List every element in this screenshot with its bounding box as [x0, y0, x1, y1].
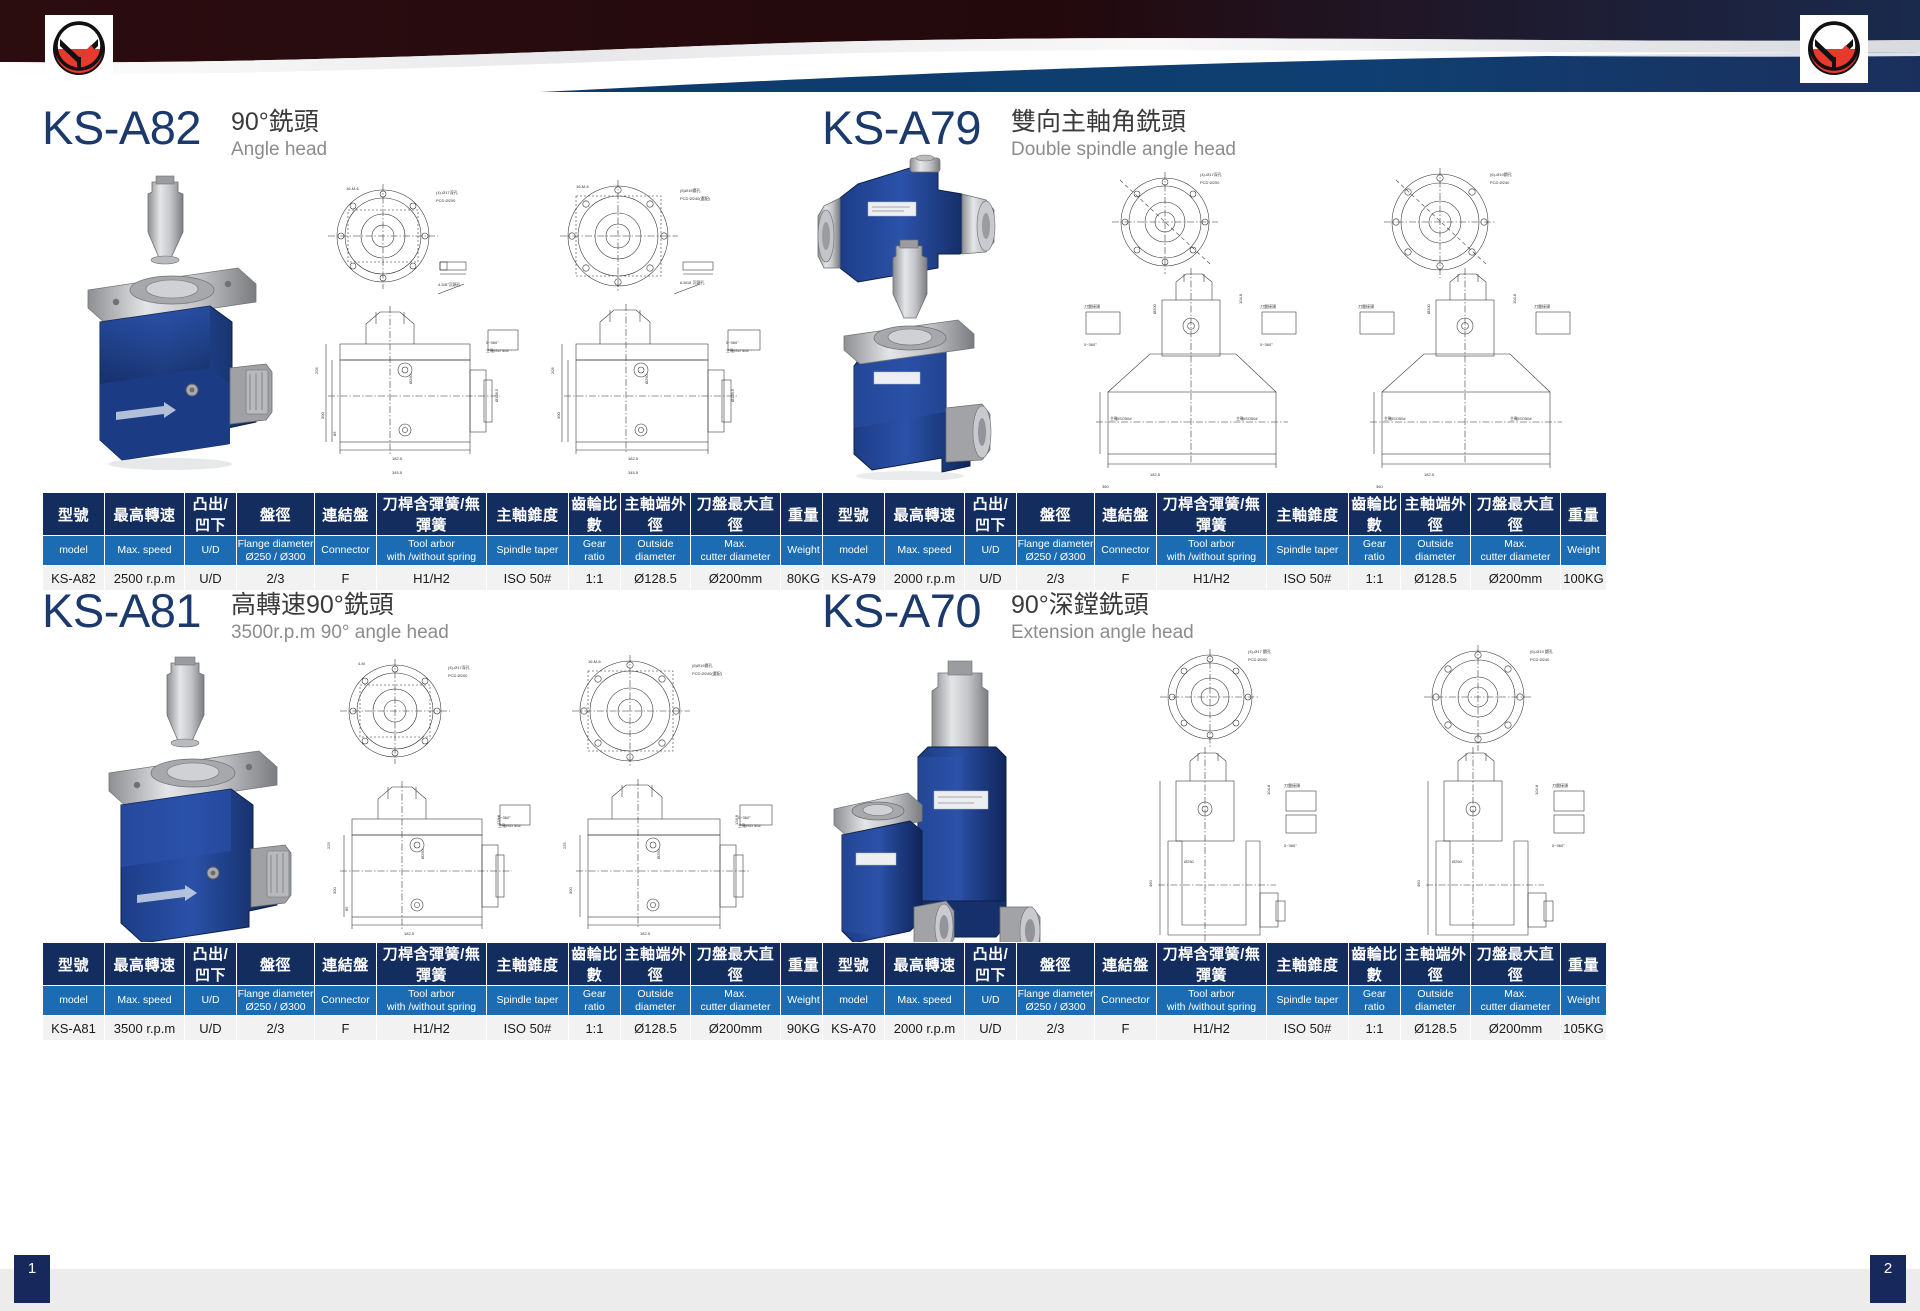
- th-cn-5: 刀桿含彈簧/無彈簧: [377, 943, 487, 986]
- svg-text:PCD Ø240(選配): PCD Ø240(選配): [680, 195, 711, 201]
- table-header-en-row: model Max. speed U/D Flange diameterØ250…: [43, 986, 827, 1016]
- cell-connector: F: [315, 1016, 377, 1041]
- svg-text:主軸ISO 50#: 主軸ISO 50#: [486, 347, 509, 353]
- svg-text:4-M: 4-M: [358, 661, 365, 666]
- th-en-7: Gearratio: [1349, 536, 1401, 566]
- table-row: KS-A70 2000 r.p.m U/D 2/3 F H1/H2 ISO 50…: [823, 1016, 1607, 1041]
- svg-text:0~360°: 0~360°: [1260, 342, 1273, 347]
- th-cn-10: 重量: [1561, 943, 1607, 986]
- page-number-right: 2: [1870, 1255, 1906, 1303]
- spec-table-ks-a82: 型號 最高轉速 凸出/凹下 盤徑 連結盤 刀桿含彈簧/無彈簧 主軸錐度 齒輪比數…: [42, 492, 827, 591]
- th-en-1: Max. speed: [105, 986, 185, 1016]
- th-en-5: Tool arborwith /without spring: [377, 536, 487, 566]
- th-en-2: U/D: [185, 536, 237, 566]
- cell-tool-arbor: H1/H2: [377, 1016, 487, 1041]
- svg-text:PCD Ø240: PCD Ø240: [1530, 657, 1550, 662]
- th-en-4: Connector: [1095, 536, 1157, 566]
- svg-text:16-M-6: 16-M-6: [588, 659, 601, 664]
- product-block-ks-a82: KS-A82 90°銑頭 Angle head: [0, 92, 800, 587]
- svg-text:16-M-6: 16-M-6: [346, 186, 359, 191]
- svg-text:0~360°: 0~360°: [1552, 843, 1565, 848]
- th-en-8: Outsidediameter: [1401, 536, 1471, 566]
- th-cn-9: 刀盤最大直徑: [691, 943, 781, 986]
- svg-text:182.5: 182.5: [404, 931, 415, 936]
- th-en-6: Spindle taper: [1267, 536, 1349, 566]
- cell-ud: U/D: [965, 1016, 1017, 1041]
- cell-connector: F: [1095, 1016, 1157, 1041]
- svg-text:300: 300: [568, 887, 573, 894]
- th-cn-10: 重量: [1561, 493, 1607, 536]
- technical-drawing-ks-a82: 16-M-6 (4)-Ø17深孔 PCD Ø200 16-M-6 (6)Ø19鑽…: [288, 174, 788, 494]
- svg-text:刀盤接頭: 刀盤接頭: [1534, 303, 1550, 309]
- product-title-ks-a82: KS-A82 90°銑頭 Angle head: [42, 104, 327, 162]
- svg-text:Ø200: Ø200: [1426, 303, 1431, 314]
- svg-text:(4)-Ø17深孔: (4)-Ø17深孔: [436, 189, 458, 195]
- th-en-3: Flange diameterØ250 / Ø300: [1017, 536, 1095, 566]
- svg-text:PCD Ø240(選配): PCD Ø240(選配): [692, 670, 723, 676]
- svg-text:460: 460: [1416, 880, 1421, 887]
- th-cn-0: 型號: [823, 493, 885, 536]
- cell-tool-arbor: H1/H2: [1157, 1016, 1267, 1041]
- svg-text:0~360°: 0~360°: [1284, 843, 1297, 848]
- th-cn-4: 連結盤: [1095, 943, 1157, 986]
- svg-text:刀盤接頭: 刀盤接頭: [1260, 303, 1276, 309]
- svg-text:182.5: 182.5: [392, 456, 403, 461]
- th-en-0: model: [43, 986, 105, 1016]
- product-photo-ks-a79: [810, 150, 1040, 480]
- cell-max-cutter-diameter: Ø200mm: [1471, 1016, 1561, 1041]
- svg-text:460: 460: [1148, 880, 1153, 887]
- svg-text:Ø250: Ø250: [420, 848, 425, 859]
- th-en-0: model: [823, 986, 885, 1016]
- th-en-5: Tool arborwith /without spring: [1157, 536, 1267, 566]
- th-cn-7: 齒輪比數: [569, 493, 621, 536]
- svg-text:刀盤接頭: 刀盤接頭: [1084, 303, 1100, 309]
- th-cn-3: 盤徑: [1017, 493, 1095, 536]
- table-header-en-row: model Max. speed U/D Flange diameterØ250…: [43, 536, 827, 566]
- th-en-0: model: [823, 536, 885, 566]
- svg-text:345.5: 345.5: [392, 470, 403, 475]
- svg-text:104.8: 104.8: [1512, 293, 1517, 304]
- svg-text:刀盤接頭: 刀盤接頭: [1358, 303, 1374, 309]
- svg-text:360: 360: [1102, 484, 1109, 489]
- svg-text:345.5: 345.5: [628, 470, 639, 475]
- technical-drawing-ks-a70: (4)-Ø17 鑽孔 PCD Ø200 (6)-Ø19 鑽孔 PCD Ø240 …: [1080, 635, 1700, 985]
- svg-text:PCD Ø200: PCD Ø200: [448, 673, 468, 678]
- th-cn-6: 主軸錐度: [487, 943, 569, 986]
- svg-text:主軸ISO50#: 主軸ISO50#: [1236, 415, 1258, 421]
- th-en-9: Max.cutter diameter: [691, 536, 781, 566]
- th-cn-2: 凸出/凹下: [965, 493, 1017, 536]
- svg-text:Ø250: Ø250: [408, 373, 413, 384]
- th-cn-5: 刀桿含彈簧/無彈簧: [1157, 493, 1267, 536]
- title-chinese: 90°深鏜銑頭: [1011, 590, 1194, 621]
- product-photo-ks-a82: [60, 172, 290, 482]
- th-cn-5: 刀桿含彈簧/無彈簧: [377, 493, 487, 536]
- title-english: Angle head: [231, 138, 327, 162]
- svg-text:182.5: 182.5: [628, 456, 639, 461]
- th-en-4: Connector: [1095, 986, 1157, 1016]
- th-cn-2: 凸出/凹下: [185, 943, 237, 986]
- th-en-0: model: [43, 536, 105, 566]
- th-cn-0: 型號: [43, 493, 105, 536]
- svg-text:Ø128.5: Ø128.5: [730, 388, 735, 402]
- svg-text:(4)-Ø17深孔: (4)-Ø17深孔: [1200, 171, 1222, 177]
- table-header-en-row: model Max. speed U/D Flange diameterØ250…: [823, 536, 1607, 566]
- th-en-4: Connector: [315, 536, 377, 566]
- svg-text:Ø250: Ø250: [656, 848, 661, 859]
- svg-text:0~360°: 0~360°: [738, 815, 751, 820]
- cell-model: KS-A70: [823, 1016, 885, 1041]
- svg-text:(6)Ø19鑽孔: (6)Ø19鑽孔: [692, 662, 712, 668]
- th-cn-3: 盤徑: [237, 493, 315, 536]
- th-cn-7: 齒輪比數: [1349, 943, 1401, 986]
- svg-text:205: 205: [314, 367, 319, 374]
- svg-text:Ø250: Ø250: [1452, 859, 1463, 864]
- svg-text:(6)-Ø19鑽孔: (6)-Ø19鑽孔: [1490, 171, 1512, 177]
- svg-text:104.8: 104.8: [1238, 293, 1243, 304]
- svg-text:225: 225: [326, 842, 331, 849]
- svg-text:主軸ISO50#: 主軸ISO50#: [1110, 415, 1132, 421]
- svg-text:主軸ISO 50#: 主軸ISO 50#: [726, 347, 749, 353]
- page-number-left: 1: [14, 1255, 50, 1303]
- svg-text:85: 85: [332, 431, 337, 436]
- svg-text:182.5: 182.5: [1424, 472, 1435, 477]
- svg-text:128.8: 128.8: [734, 814, 739, 825]
- cell-max-speed: 3500 r.p.m: [105, 1016, 185, 1041]
- cell-spindle-taper: ISO 50#: [1267, 1016, 1349, 1041]
- page-footer: 1 2: [0, 1255, 1920, 1311]
- svg-text:PCD Ø200: PCD Ø200: [436, 198, 456, 203]
- th-en-7: Gearratio: [569, 536, 621, 566]
- svg-text:4-5/8"沉頭孔: 4-5/8"沉頭孔: [438, 281, 461, 287]
- th-en-5: Tool arborwith /without spring: [377, 986, 487, 1016]
- th-en-1: Max. speed: [105, 536, 185, 566]
- th-en-3: Flange diameterØ250 / Ø300: [237, 986, 315, 1016]
- model-name: KS-A81: [42, 587, 201, 634]
- th-en-10: Weight: [1561, 536, 1607, 566]
- svg-text:205: 205: [550, 367, 555, 374]
- cell-ud: U/D: [185, 1016, 237, 1041]
- svg-text:0~360°: 0~360°: [1084, 342, 1097, 347]
- th-cn-9: 刀盤最大直徑: [1471, 493, 1561, 536]
- th-cn-8: 主軸端外徑: [1401, 943, 1471, 986]
- th-cn-7: 齒輪比數: [1349, 493, 1401, 536]
- th-cn-1: 最高轉速: [105, 493, 185, 536]
- th-cn-6: 主軸錐度: [487, 493, 569, 536]
- svg-text:104.8: 104.8: [1534, 784, 1539, 795]
- product-photo-ks-a70: [810, 639, 1060, 979]
- product-photo-ks-a81: [75, 649, 305, 969]
- svg-text:6-M18 沉頭孔: 6-M18 沉頭孔: [680, 279, 704, 285]
- svg-text:85: 85: [344, 906, 349, 911]
- svg-text:PCD Ø200: PCD Ø200: [1200, 180, 1220, 185]
- th-cn-6: 主軸錐度: [1267, 493, 1349, 536]
- table-row: KS-A81 3500 r.p.m U/D 2/3 F H1/H2 ISO 50…: [43, 1016, 827, 1041]
- product-block-ks-a79: KS-A79 雙向主軸角銑頭 Double spindle angle head: [800, 92, 1920, 587]
- th-en-10: Weight: [1561, 986, 1607, 1016]
- title-chinese: 高轉速90°銑頭: [231, 590, 449, 621]
- th-cn-0: 型號: [43, 943, 105, 986]
- svg-text:PCD Ø200: PCD Ø200: [1248, 657, 1268, 662]
- th-en-1: Max. speed: [885, 536, 965, 566]
- cell-flange-diameter: 2/3: [237, 1016, 315, 1041]
- th-cn-2: 凸出/凹下: [185, 493, 237, 536]
- svg-text:(4)-Ø17深孔: (4)-Ø17深孔: [448, 664, 470, 670]
- th-en-2: U/D: [185, 986, 237, 1016]
- svg-text:104.8: 104.8: [1266, 784, 1271, 795]
- model-name: KS-A70: [822, 587, 981, 634]
- product-title-ks-a81: KS-A81 高轉速90°銑頭 3500r.p.m 90° angle head: [42, 587, 449, 645]
- th-cn-2: 凸出/凹下: [965, 943, 1017, 986]
- svg-text:(6)-Ø19 鑽孔: (6)-Ø19 鑽孔: [1530, 648, 1553, 654]
- th-cn-8: 主軸端外徑: [621, 493, 691, 536]
- table-header-cn-row: 型號 最高轉速 凸出/凹下 盤徑 連結盤 刀桿含彈簧/無彈簧 主軸錐度 齒輪比數…: [43, 493, 827, 536]
- th-en-8: Outsidediameter: [621, 986, 691, 1016]
- th-en-2: U/D: [965, 986, 1017, 1016]
- title-chinese: 雙向主軸角銑頭: [1011, 107, 1236, 138]
- th-en-8: Outsidediameter: [621, 536, 691, 566]
- th-en-6: Spindle taper: [487, 986, 569, 1016]
- th-cn-1: 最高轉速: [885, 493, 965, 536]
- th-en-9: Max.cutter diameter: [691, 986, 781, 1016]
- cell-weight: 105KG: [1561, 1016, 1607, 1041]
- logo-icon: [49, 19, 109, 79]
- svg-text:主軸ISO50#: 主軸ISO50#: [1510, 415, 1532, 421]
- svg-text:刀盤接頭: 刀盤接頭: [1284, 782, 1300, 788]
- table-header-en-row: model Max. speed U/D Flange diameterØ250…: [823, 986, 1607, 1016]
- th-cn-1: 最高轉速: [105, 943, 185, 986]
- table-header-cn-row: 型號 最高轉速 凸出/凹下 盤徑 連結盤 刀桿含彈簧/無彈簧 主軸錐度 齒輪比數…: [823, 493, 1607, 536]
- header-banner: [0, 0, 1920, 92]
- svg-text:PCD Ø240: PCD Ø240: [1490, 180, 1510, 185]
- model-name: KS-A79: [822, 104, 981, 151]
- company-logo: [45, 15, 113, 83]
- svg-text:182.5: 182.5: [640, 931, 651, 936]
- catalog-page: KS-A82 90°銑頭 Angle head: [0, 0, 1920, 1311]
- th-cn-4: 連結盤: [1095, 493, 1157, 536]
- th-cn-1: 最高轉速: [885, 943, 965, 986]
- th-cn-5: 刀桿含彈簧/無彈簧: [1157, 943, 1267, 986]
- title-chinese: 90°銑頭: [231, 107, 327, 138]
- svg-text:Ø250: Ø250: [644, 373, 649, 384]
- th-en-4: Connector: [315, 986, 377, 1016]
- svg-text:主軸ISO 50#: 主軸ISO 50#: [498, 822, 521, 828]
- cell-flange-diameter: 2/3: [1017, 1016, 1095, 1041]
- title-english: 3500r.p.m 90° angle head: [231, 621, 449, 645]
- th-cn-4: 連結盤: [315, 943, 377, 986]
- cell-max-speed: 2000 r.p.m: [885, 1016, 965, 1041]
- svg-text:(6)Ø19鑽孔: (6)Ø19鑽孔: [680, 187, 700, 193]
- th-en-6: Spindle taper: [1267, 986, 1349, 1016]
- table-header-cn-row: 型號 最高轉速 凸出/凹下 盤徑 連結盤 刀桿含彈簧/無彈簧 主軸錐度 齒輪比數…: [823, 943, 1607, 986]
- svg-text:225: 225: [562, 842, 567, 849]
- svg-text:Ø250: Ø250: [1184, 859, 1195, 864]
- svg-text:300: 300: [556, 412, 561, 419]
- th-cn-3: 盤徑: [1017, 943, 1095, 986]
- th-en-7: Gearratio: [569, 986, 621, 1016]
- spec-table-ks-a70: 型號 最高轉速 凸出/凹下 盤徑 連結盤 刀桿含彈簧/無彈簧 主軸錐度 齒輪比數…: [822, 942, 1607, 1041]
- model-name: KS-A82: [42, 104, 201, 151]
- svg-text:Ø200: Ø200: [1152, 303, 1157, 314]
- svg-text:16-M-6: 16-M-6: [576, 184, 589, 189]
- th-en-7: Gearratio: [1349, 986, 1401, 1016]
- th-en-3: Flange diameterØ250 / Ø300: [237, 536, 315, 566]
- cell-gear-ratio: 1:1: [569, 1016, 621, 1041]
- cell-max-cutter-diameter: Ø200mm: [691, 1016, 781, 1041]
- logo-icon: [1804, 19, 1864, 79]
- svg-text:0~360°: 0~360°: [486, 340, 499, 345]
- th-en-9: Max.cutter diameter: [1471, 986, 1561, 1016]
- svg-text:300: 300: [332, 887, 337, 894]
- svg-text:360: 360: [1376, 484, 1383, 489]
- cell-model: KS-A81: [43, 1016, 105, 1041]
- svg-text:0~360°: 0~360°: [726, 340, 739, 345]
- th-en-3: Flange diameterØ250 / Ø300: [1017, 986, 1095, 1016]
- svg-text:(4)-Ø17 鑽孔: (4)-Ø17 鑽孔: [1248, 648, 1271, 654]
- product-block-ks-a81: KS-A81 高轉速90°銑頭 3500r.p.m 90° angle head: [0, 587, 800, 1237]
- svg-text:300: 300: [320, 412, 325, 419]
- th-cn-6: 主軸錐度: [1267, 943, 1349, 986]
- th-cn-8: 主軸端外徑: [621, 943, 691, 986]
- footer-bar: [0, 1269, 1920, 1311]
- th-cn-8: 主軸端外徑: [1401, 493, 1471, 536]
- th-en-2: U/D: [965, 536, 1017, 566]
- company-logo: [1800, 15, 1868, 83]
- spec-table-ks-a81: 型號 最高轉速 凸出/凹下 盤徑 連結盤 刀桿含彈簧/無彈簧 主軸錐度 齒輪比數…: [42, 942, 827, 1041]
- th-cn-3: 盤徑: [237, 943, 315, 986]
- cell-outside-diameter: Ø128.5: [621, 1016, 691, 1041]
- svg-text:主軸ISO50#: 主軸ISO50#: [1384, 415, 1406, 421]
- th-cn-9: 刀盤最大直徑: [1471, 943, 1561, 986]
- svg-text:Ø128.5: Ø128.5: [494, 388, 499, 402]
- table-header-cn-row: 型號 最高轉速 凸出/凹下 盤徑 連結盤 刀桿含彈簧/無彈簧 主軸錐度 齒輪比數…: [43, 943, 827, 986]
- th-cn-7: 齒輪比數: [569, 943, 621, 986]
- product-block-ks-a70: KS-A70 90°深鏜銑頭 Extension angle head: [800, 587, 1920, 1237]
- cell-outside-diameter: Ø128.5: [1401, 1016, 1471, 1041]
- th-cn-4: 連結盤: [315, 493, 377, 536]
- technical-drawing-ks-a79: (4)-Ø17深孔 PCD Ø200 (6)-Ø19鑽孔 PCD Ø240 刀盤…: [1050, 154, 1670, 494]
- technical-drawing-ks-a81: 4-M (4)-Ø17深孔 PCD Ø200 16-M-6 (6)Ø19鑽孔 P…: [300, 649, 800, 969]
- th-cn-9: 刀盤最大直徑: [691, 493, 781, 536]
- cell-gear-ratio: 1:1: [1349, 1016, 1401, 1041]
- svg-text:主軸ISO 50#: 主軸ISO 50#: [738, 822, 761, 828]
- th-en-6: Spindle taper: [487, 536, 569, 566]
- svg-text:182.5: 182.5: [1150, 472, 1161, 477]
- th-en-9: Max.cutter diameter: [1471, 536, 1561, 566]
- cell-spindle-taper: ISO 50#: [487, 1016, 569, 1041]
- th-en-1: Max. speed: [885, 986, 965, 1016]
- th-en-8: Outsidediameter: [1401, 986, 1471, 1016]
- th-en-5: Tool arborwith /without spring: [1157, 986, 1267, 1016]
- th-cn-0: 型號: [823, 943, 885, 986]
- svg-text:128.8: 128.8: [496, 814, 501, 825]
- svg-text:刀盤接頭: 刀盤接頭: [1552, 782, 1568, 788]
- spec-table-ks-a79: 型號 最高轉速 凸出/凹下 盤徑 連結盤 刀桿含彈簧/無彈簧 主軸錐度 齒輪比數…: [822, 492, 1607, 591]
